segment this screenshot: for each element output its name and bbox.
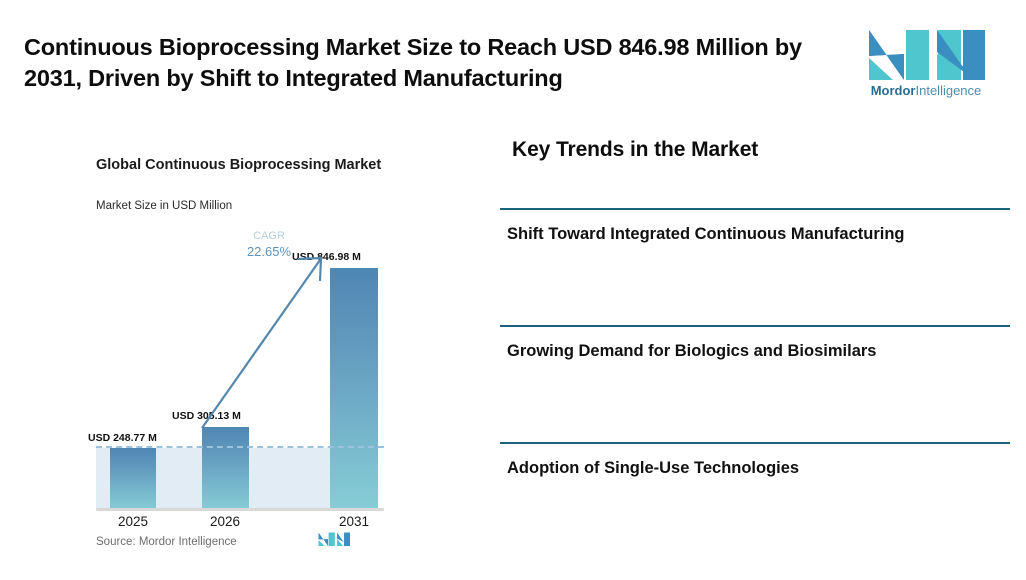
chart-source: Source: Mordor Intelligence [96,536,237,548]
page-header: Continuous Bioprocessing Market Size to … [0,0,1026,120]
key-trends-panel: Key Trends in the Market Shift Toward In… [500,120,1010,580]
bar-chart-plot: USD 248.77 M USD 305.13 M USD 846.98 M C… [96,230,384,510]
growth-arrow-icon [96,230,384,510]
mordor-m-logo-icon-small [318,530,350,550]
trend-item-2[interactable]: Adoption of Single-Use Technologies [500,442,1010,559]
x-tick-2026: 2026 [195,514,255,529]
mordor-m-logo-icon [867,28,985,80]
chart-title: Global Continuous Bioprocessing Market [96,156,386,175]
trend-label-0: Shift Toward Integrated Continuous Manuf… [507,222,977,248]
brand-name-light: Intelligence [916,83,982,98]
x-tick-2031: 2031 [324,514,384,529]
chart-subtitle: Market Size in USD Million [96,200,232,212]
page-title: Continuous Bioprocessing Market Size to … [24,32,836,93]
trend-item-1[interactable]: Growing Demand for Biologics and Biosimi… [500,325,1010,442]
brand-wordmark: MordorIntelligence [846,84,1006,97]
trend-label-1: Growing Demand for Biologics and Biosimi… [507,339,977,365]
trend-label-2: Adoption of Single-Use Technologies [507,456,977,482]
brand-logo: MordorIntelligence [846,28,1006,108]
x-tick-2025: 2025 [103,514,163,529]
chart-panel: Global Continuous Bioprocessing Market M… [0,120,470,580]
key-trends-title: Key Trends in the Market [512,138,758,162]
brand-name-bold: Mordor [871,83,916,98]
trend-item-0[interactable]: Shift Toward Integrated Continuous Manuf… [500,208,1010,325]
